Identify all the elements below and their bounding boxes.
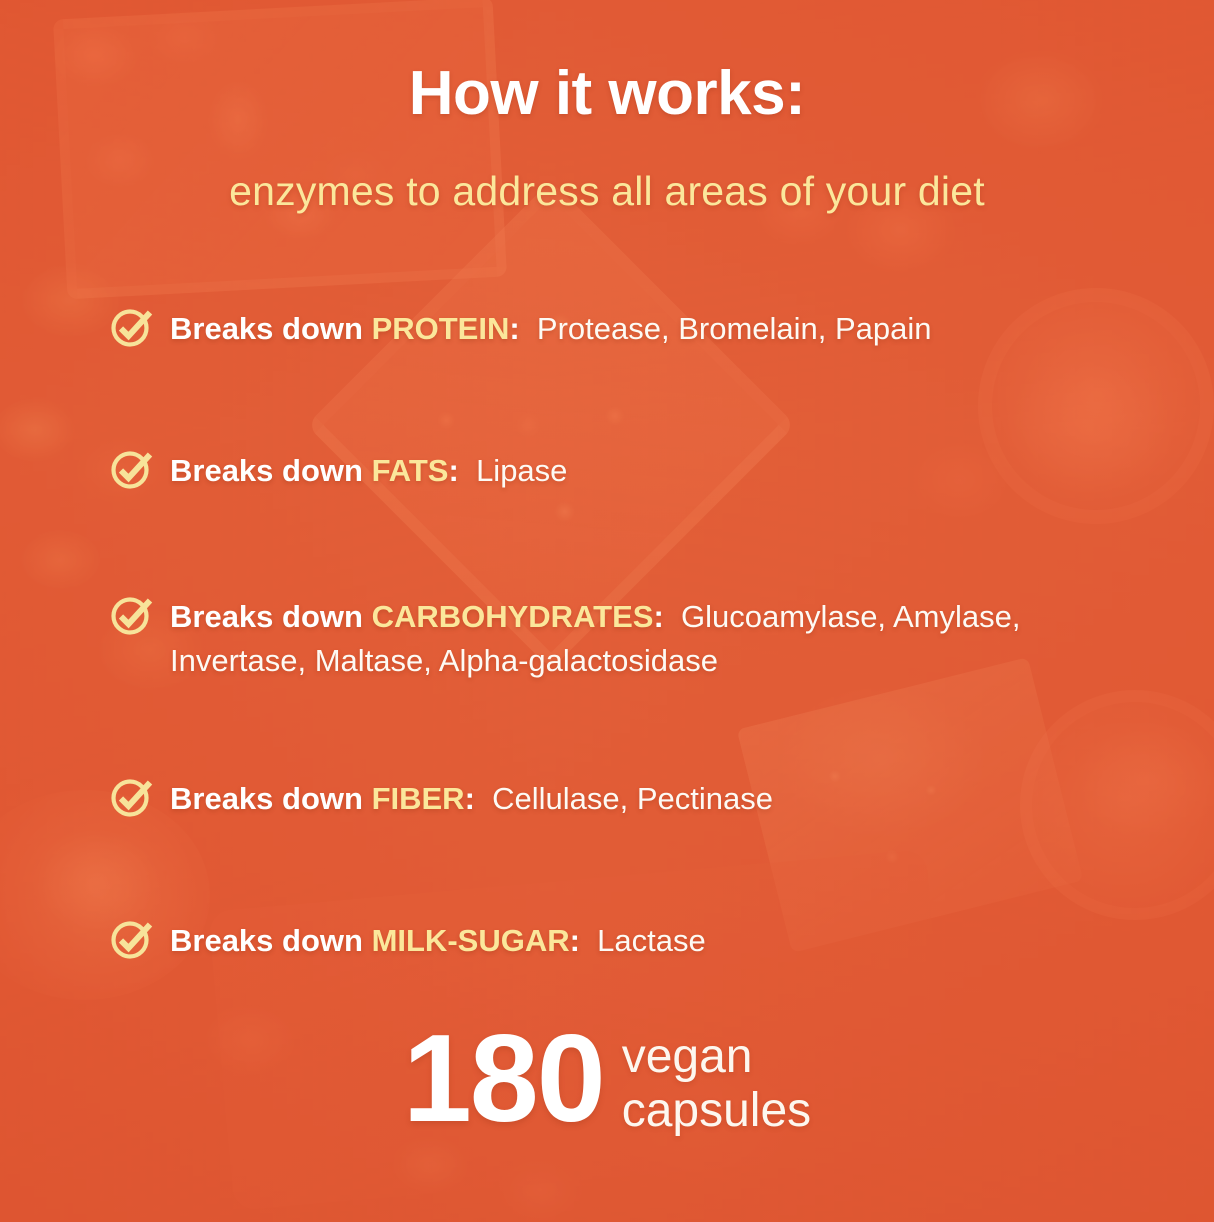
list-item-category: FIBER bbox=[372, 781, 465, 816]
page-title: How it works: bbox=[0, 58, 1214, 129]
list-item-category: PROTEIN bbox=[372, 311, 510, 346]
list-item-category: CARBOHYDRATES bbox=[372, 599, 654, 634]
list-item-colon: : bbox=[449, 453, 459, 488]
benefits-list: Breaks down PROTEIN: Protease, Bromelain… bbox=[110, 305, 1140, 963]
list-item: Breaks down MILK-SUGAR: Lactase bbox=[110, 917, 1140, 963]
list-item-enzymes: Lactase bbox=[597, 923, 706, 958]
list-item-enzymes: Cellulase, Pectinase bbox=[492, 781, 773, 816]
list-item-enzymes: Protease, Bromelain, Papain bbox=[537, 311, 932, 346]
list-item-colon: : bbox=[465, 781, 475, 816]
check-circle-icon bbox=[110, 447, 154, 491]
list-item: Breaks down CARBOHYDRATES: Glucoamylase,… bbox=[110, 593, 1140, 683]
capsule-count-word-line2: capsules bbox=[622, 1084, 811, 1138]
capsule-count-words: vegan capsules bbox=[622, 1022, 811, 1138]
check-circle-icon bbox=[110, 593, 154, 637]
check-circle-icon bbox=[110, 917, 154, 961]
list-item-colon: : bbox=[653, 599, 663, 634]
list-item-lead: Breaks down bbox=[170, 453, 372, 488]
list-item-text: Breaks down FIBER: Cellulase, Pectinase bbox=[170, 775, 773, 821]
list-item-text: Breaks down MILK-SUGAR: Lactase bbox=[170, 917, 706, 963]
list-item-lead: Breaks down bbox=[170, 311, 372, 346]
list-item-text: Breaks down CARBOHYDRATES: Glucoamylase,… bbox=[170, 593, 1130, 683]
list-item-text: Breaks down FATS: Lipase bbox=[170, 447, 567, 493]
list-item: Breaks down FIBER: Cellulase, Pectinase bbox=[110, 775, 1140, 821]
capsule-count-block: 180 vegan capsules bbox=[0, 1022, 1214, 1138]
list-item-lead: Breaks down bbox=[170, 599, 372, 634]
list-item-lead: Breaks down bbox=[170, 923, 372, 958]
list-item-colon: : bbox=[570, 923, 580, 958]
list-item: Breaks down FATS: Lipase bbox=[110, 447, 1140, 493]
product-infographic: How it works: enzymes to address all are… bbox=[0, 0, 1214, 1222]
list-item-colon: : bbox=[509, 311, 519, 346]
capsule-count-word-line1: vegan bbox=[622, 1030, 811, 1084]
content-overlay: How it works: enzymes to address all are… bbox=[0, 0, 1214, 1222]
list-item-lead: Breaks down bbox=[170, 781, 372, 816]
list-item-category: FATS bbox=[372, 453, 449, 488]
list-item-enzymes: Lipase bbox=[476, 453, 567, 488]
check-circle-icon bbox=[110, 775, 154, 819]
check-circle-icon bbox=[110, 305, 154, 349]
capsule-count-number: 180 bbox=[403, 1022, 604, 1136]
page-subtitle: enzymes to address all areas of your die… bbox=[0, 168, 1214, 215]
list-item-category: MILK-SUGAR bbox=[372, 923, 570, 958]
list-item: Breaks down PROTEIN: Protease, Bromelain… bbox=[110, 305, 1140, 351]
list-item-text: Breaks down PROTEIN: Protease, Bromelain… bbox=[170, 305, 932, 351]
